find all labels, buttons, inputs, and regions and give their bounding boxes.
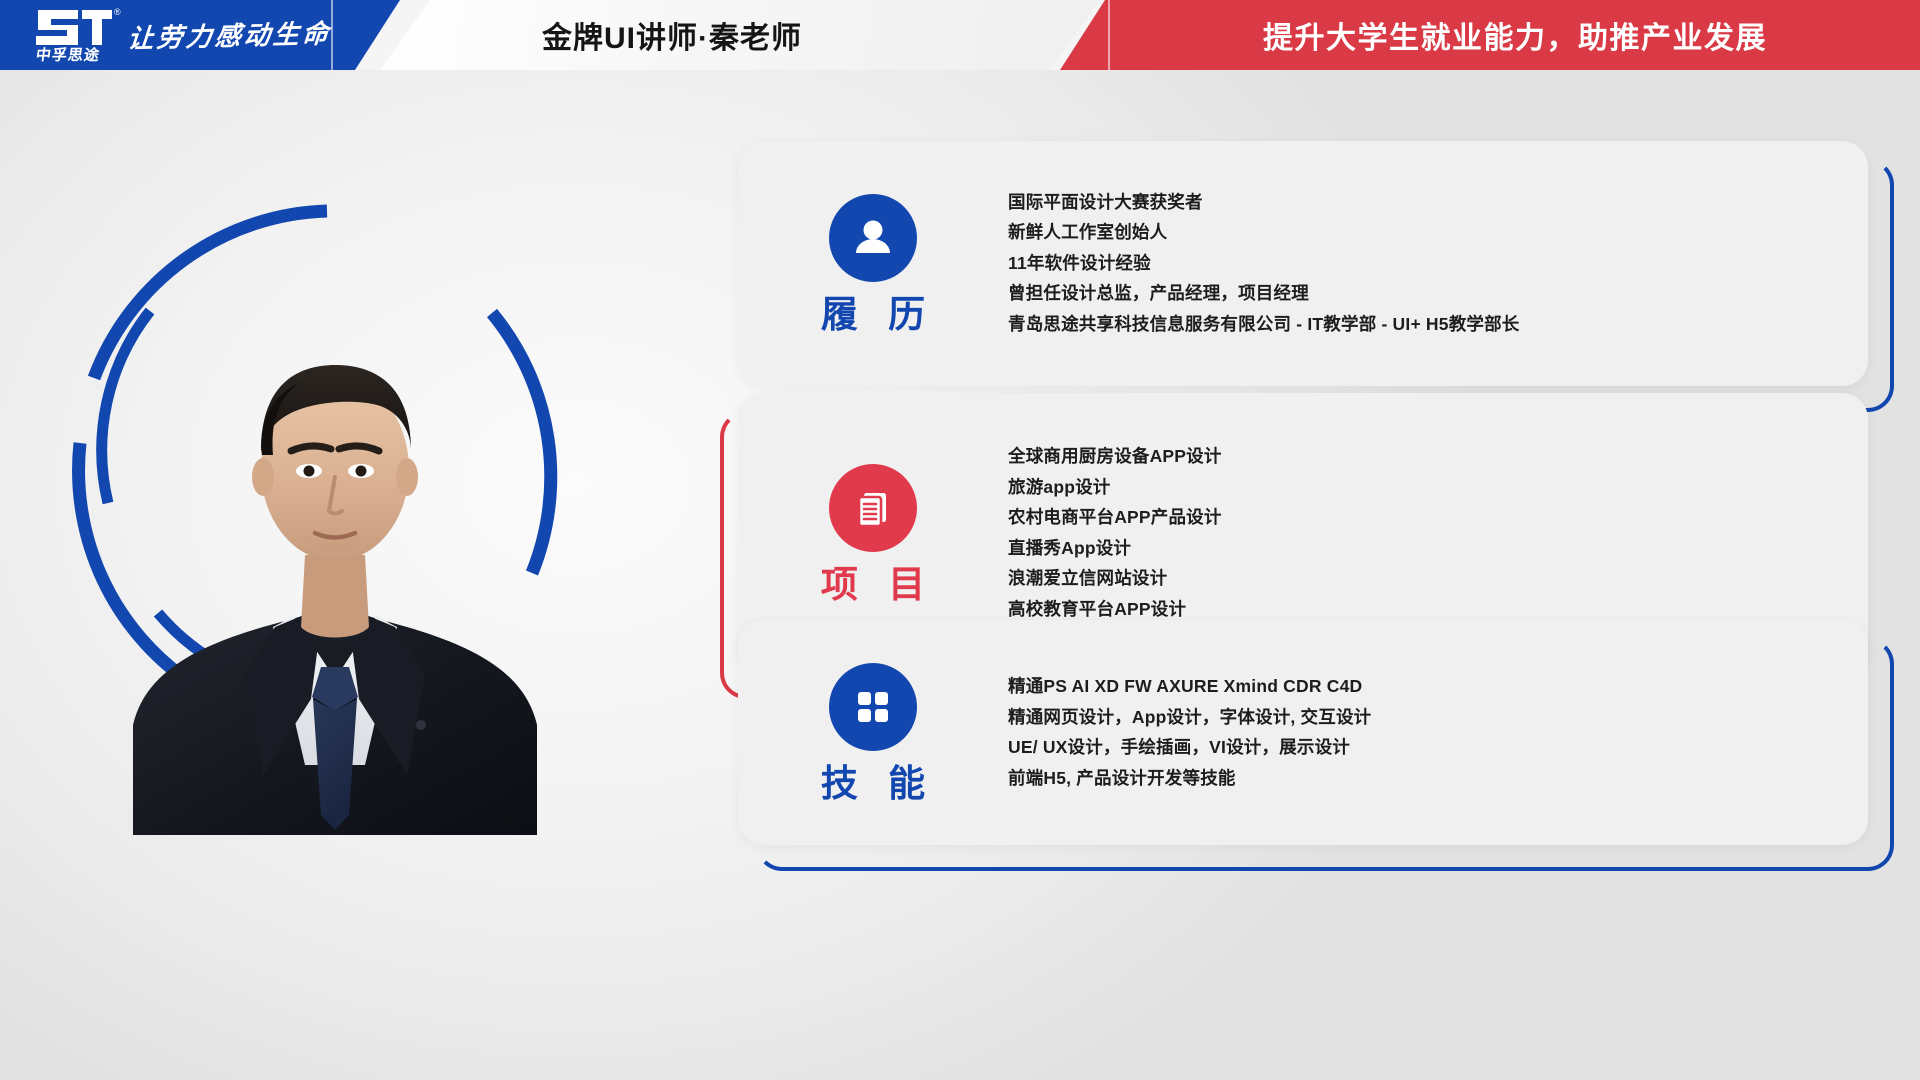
list-item: 国际平面设计大赛获奖者: [1008, 194, 1828, 212]
header-divider-left: [331, 0, 333, 70]
list-item: 曾担任设计总监，产品经理，项目经理: [1008, 285, 1828, 303]
list-item: 浪潮爱立信网站设计: [1008, 570, 1828, 588]
registered-mark: ®: [114, 7, 121, 17]
header-bar: ® 中孚思途 让劳力感动生命 金牌UI讲师·秦老师 提升大学生就业能力，助推产业…: [0, 0, 1920, 70]
card-skill-lines: 精通PS AI XD FW AXURE Xmind CDR C4D 精通网页设计…: [1008, 678, 1868, 787]
avatar: [125, 255, 545, 835]
company-name-cn: 中孚思途: [35, 44, 102, 65]
list-item: 全球商用厨房设备APP设计: [1008, 448, 1828, 466]
card-resume-badge: 履 历: [738, 194, 1008, 333]
card-skill: 技 能 精通PS AI XD FW AXURE Xmind CDR C4D 精通…: [738, 620, 1868, 845]
list-item: 直播秀App设计: [1008, 540, 1828, 558]
card-project-badge: 项 目: [738, 464, 1008, 603]
document-icon: [829, 464, 917, 552]
list-item: 前端H5, 产品设计开发等技能: [1008, 770, 1828, 788]
list-item: UE/ UX设计，手绘插画，VI设计，展示设计: [1008, 739, 1828, 757]
portrait-block: [30, 195, 590, 855]
list-item: 11年软件设计经验: [1008, 255, 1828, 273]
card-resume-lines: 国际平面设计大赛获奖者 新鲜人工作室创始人 11年软件设计经验 曾担任设计总监，…: [1008, 194, 1868, 334]
card-project-label: 项 目: [811, 566, 935, 603]
brand-logo: ® 中孚思途: [28, 4, 138, 66]
person-icon: [829, 194, 917, 282]
brand-slogan: 让劳力感动生命: [126, 13, 332, 55]
list-item: 精通PS AI XD FW AXURE Xmind CDR C4D: [1008, 678, 1828, 696]
card-resume-label: 履 历: [811, 296, 935, 333]
list-item: 青岛思途共享科技信息服务有限公司 - IT教学部 - UI+ H5教学部长: [1008, 316, 1828, 334]
list-item: 农村电商平台APP产品设计: [1008, 509, 1828, 527]
list-item: 高校教育平台APP设计: [1008, 601, 1828, 619]
slide-root: ® 中孚思途 让劳力感动生命 金牌UI讲师·秦老师 提升大学生就业能力，助推产业…: [0, 0, 1920, 1080]
list-item: 新鲜人工作室创始人: [1008, 224, 1828, 242]
grid-icon: [829, 663, 917, 751]
card-project-lines: 全球商用厨房设备APP设计 旅游app设计 农村电商平台APP产品设计 直播秀A…: [1008, 448, 1868, 618]
card-skill-label: 技 能: [811, 765, 935, 802]
card-resume: 履 历 国际平面设计大赛获奖者 新鲜人工作室创始人 11年软件设计经验 曾担任设…: [738, 141, 1868, 386]
card-skill-badge: 技 能: [738, 663, 1008, 802]
list-item: 旅游app设计: [1008, 479, 1828, 497]
page-title: 金牌UI讲师·秦老师: [392, 0, 952, 70]
list-item: 精通网页设计，App设计，字体设计, 交互设计: [1008, 709, 1828, 727]
header-tagline: 提升大学生就业能力，助推产业发展: [1120, 0, 1910, 70]
header-divider-right: [1108, 0, 1110, 70]
